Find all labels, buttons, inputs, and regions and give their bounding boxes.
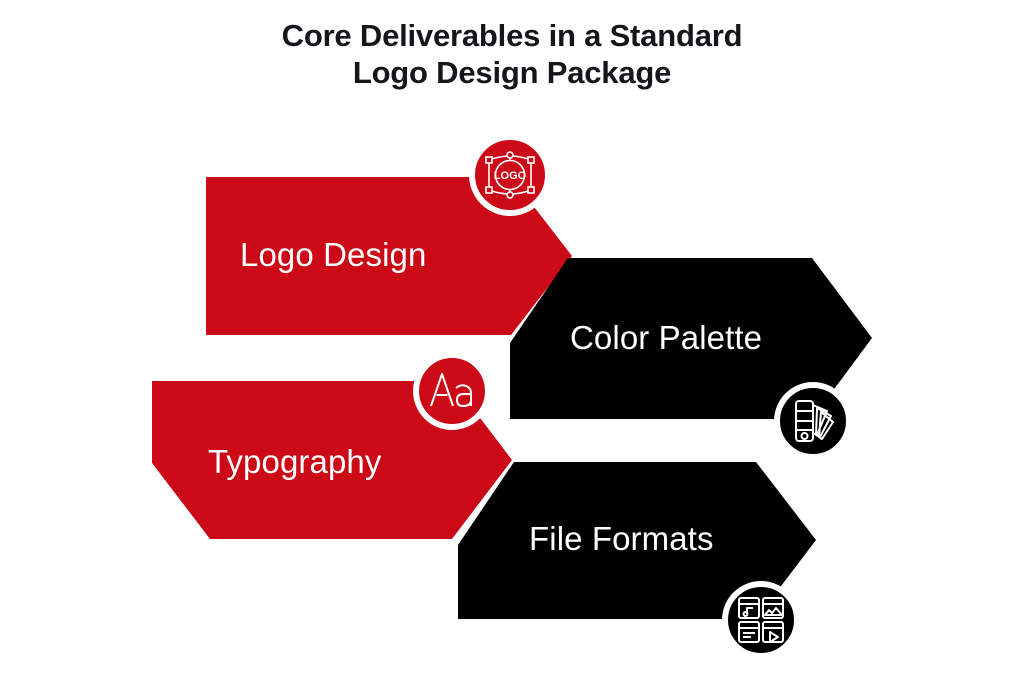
logo-vector-nodes-icon[interactable]: LOGO bbox=[469, 134, 551, 216]
infographic-canvas: Core Deliverables in a Standard Logo Des… bbox=[0, 0, 1024, 683]
logo-icon-inner-text: LOGO bbox=[494, 170, 527, 182]
shape-label-color-palette: Color Palette bbox=[570, 321, 762, 354]
shape-label-typography: Typography bbox=[208, 445, 381, 478]
shape-label-logo-design: Logo Design bbox=[240, 238, 426, 271]
diagram-shapes-layer bbox=[0, 0, 1024, 683]
color-swatch-fan-icon[interactable] bbox=[774, 382, 852, 460]
file-formats-grid-icon[interactable] bbox=[722, 581, 800, 659]
typography-aa-icon[interactable] bbox=[413, 352, 491, 430]
shape-label-file-formats: File Formats bbox=[529, 522, 714, 555]
